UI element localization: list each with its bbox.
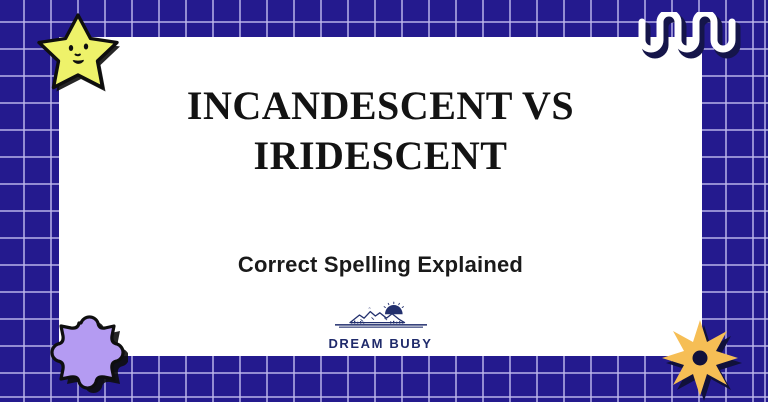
brand-name: DREAM BUBY bbox=[306, 336, 456, 351]
title-line-2: IRIDESCENT bbox=[59, 131, 702, 181]
brand-logo: DREAM BUBY bbox=[306, 301, 456, 351]
content-card: INCANDESCENT VS IRIDESCENT Correct Spell… bbox=[59, 37, 702, 356]
sunburst-star-icon bbox=[652, 312, 748, 402]
puzzle-piece-icon bbox=[28, 296, 128, 402]
mountain-sunrise-logo-mark-icon bbox=[327, 301, 435, 335]
title-line-1: INCANDESCENT VS bbox=[59, 81, 702, 131]
star-smiley-icon bbox=[30, 8, 124, 100]
page-title: INCANDESCENT VS IRIDESCENT bbox=[59, 81, 702, 181]
subtitle-text: Correct Spelling Explained bbox=[59, 252, 702, 278]
squiggle-icon bbox=[634, 12, 746, 68]
slide-canvas: INCANDESCENT VS IRIDESCENT Correct Spell… bbox=[0, 0, 768, 402]
